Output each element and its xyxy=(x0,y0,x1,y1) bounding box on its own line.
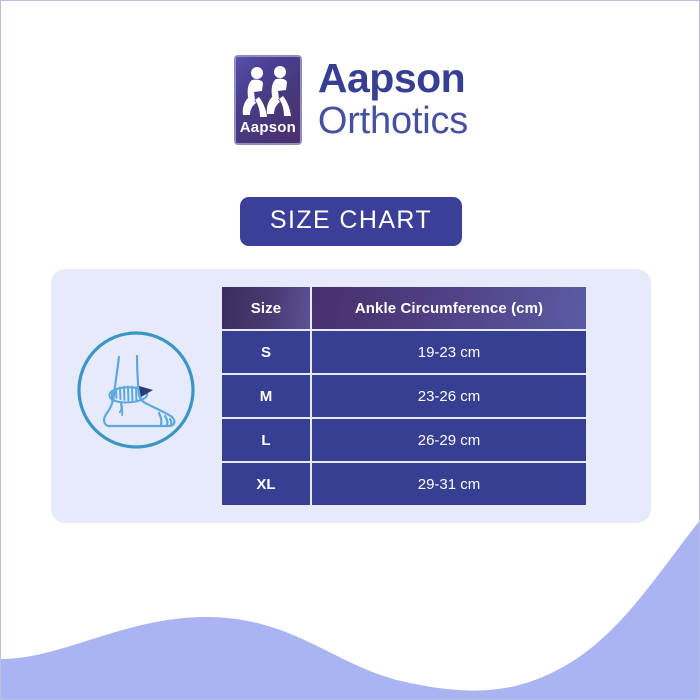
cell-circumference-l: 26-29 cm xyxy=(312,419,586,461)
cell-size-s: S xyxy=(222,331,310,373)
size-chart-banner: SIZE CHART xyxy=(1,197,700,246)
table-row: M 23-26 cm xyxy=(222,375,586,417)
size-chart-card: Size Ankle Circumference (cm) S 19-23 cm… xyxy=(51,269,651,523)
brand-wordmark: Aapson Orthotics xyxy=(318,58,468,143)
table-row: S 19-23 cm xyxy=(222,331,586,373)
size-chart-table: Size Ankle Circumference (cm) S 19-23 cm… xyxy=(220,285,588,507)
table-header-row: Size Ankle Circumference (cm) xyxy=(222,287,586,329)
column-header-size: Size xyxy=(222,287,310,329)
size-chart-page: Aapson Aapson Orthotics SIZE CHART xyxy=(0,0,700,700)
brand-name: Aapson xyxy=(318,58,468,100)
cell-circumference-xl: 29-31 cm xyxy=(312,463,586,505)
two-walking-figures-icon xyxy=(240,65,296,123)
brand-header: Aapson Aapson Orthotics xyxy=(1,55,700,145)
decorative-wave xyxy=(1,499,700,699)
cell-size-xl: XL xyxy=(222,463,310,505)
brand-logo-badge: Aapson xyxy=(234,55,302,145)
badge-wordmark: Aapson xyxy=(236,119,300,136)
table-row: XL 29-31 cm xyxy=(222,463,586,505)
size-chart-title: SIZE CHART xyxy=(240,197,462,246)
cell-size-m: M xyxy=(222,375,310,417)
cell-circumference-s: 19-23 cm xyxy=(312,331,586,373)
cell-circumference-m: 23-26 cm xyxy=(312,375,586,417)
ankle-measurement-icon xyxy=(75,329,197,451)
brand-subtitle: Orthotics xyxy=(318,101,468,142)
column-header-circumference: Ankle Circumference (cm) xyxy=(312,287,586,329)
cell-size-l: L xyxy=(222,419,310,461)
table-row: L 26-29 cm xyxy=(222,419,586,461)
